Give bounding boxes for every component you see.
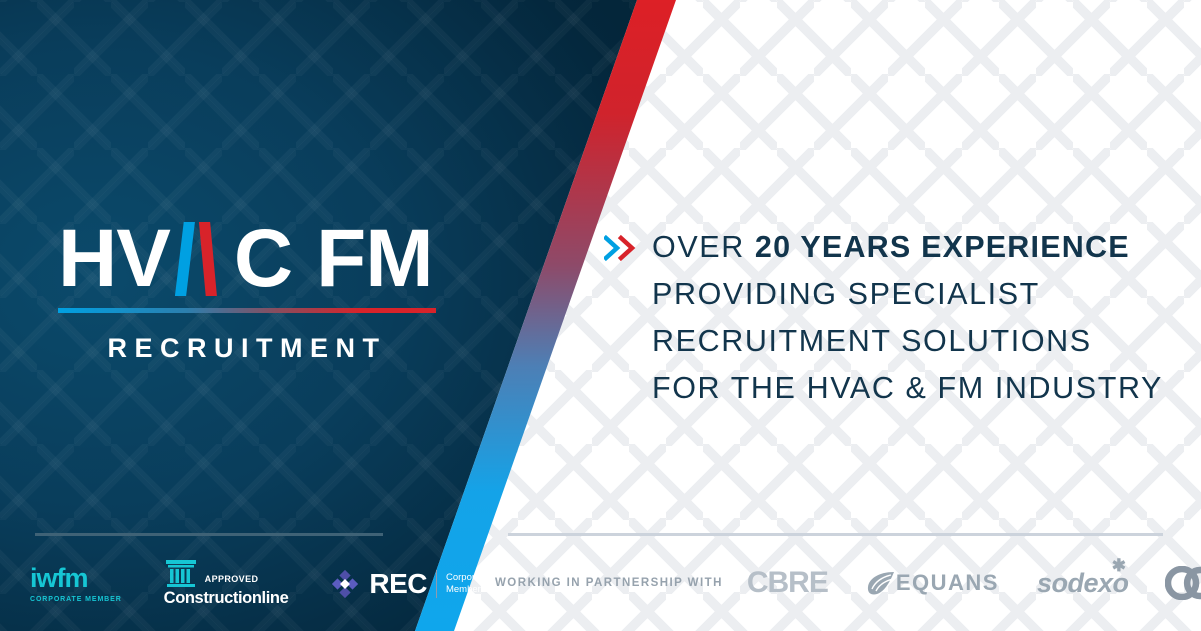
logo-gradient-rule xyxy=(58,308,436,313)
divider-rule-dark xyxy=(35,533,383,536)
diamond-cluster-icon xyxy=(330,569,360,599)
ocs-logo xyxy=(1165,566,1201,600)
pillar-icon xyxy=(164,560,198,587)
rec-logo: REC Corporate Member xyxy=(330,568,488,600)
headline-emphasis: 20 YEARS EXPERIENCE xyxy=(755,230,1130,264)
logo-a-red-bar xyxy=(197,222,217,296)
leaf-icon xyxy=(866,570,896,596)
rec-subtitle: Corporate Member xyxy=(446,572,488,596)
rec-wordmark: REC xyxy=(369,568,427,600)
logo-wordmark: HV C FM xyxy=(58,222,450,296)
constructionline-top-row: APPROVED xyxy=(164,560,289,587)
logo-text-fm: FM xyxy=(316,222,432,296)
logo-a-blue-bar xyxy=(175,222,195,296)
sodexo-logo: sodexo ✱ xyxy=(1037,568,1129,599)
headline-line-3: RECRUITMENT SOLUTIONS xyxy=(604,318,1180,365)
accreditation-logos: iwfm CORPORATE MEMBER APPROVED Construct… xyxy=(30,560,488,608)
partner-logos: WORKING IN PARTNERSHIP WITH CBRE EQUANS … xyxy=(495,566,1201,600)
hvac-fm-logo: HV C FM RECRUITMENT xyxy=(58,222,450,364)
cbre-logo: CBRE xyxy=(747,566,828,600)
equans-wordmark: EQUANS xyxy=(896,570,999,596)
headline-over: OVER xyxy=(652,230,755,264)
constructionline-logo: APPROVED Constructionline xyxy=(164,560,289,608)
logo-text-c: C xyxy=(234,222,292,296)
logo-letter-a-icon xyxy=(171,222,233,296)
rec-subtitle-line1: Corporate xyxy=(446,572,488,584)
double-chevron-right-icon xyxy=(604,232,638,264)
divider-rule-light xyxy=(508,533,1163,536)
equans-logo: EQUANS xyxy=(866,570,999,596)
rec-divider xyxy=(436,570,437,598)
iwfm-logo: iwfm CORPORATE MEMBER xyxy=(30,565,122,603)
constructionline-wordmark: Constructionline xyxy=(164,589,289,608)
headline-line-4: FOR THE HVAC & FM INDUSTRY xyxy=(604,365,1180,412)
iwfm-subtitle: CORPORATE MEMBER xyxy=(30,596,122,603)
constructionline-approved-badge: APPROVED xyxy=(205,574,259,587)
iwfm-wordmark: iwfm xyxy=(30,565,122,592)
promotional-banner: HV C FM RECRUITMENT OVER 20 YEARS EXPERI… xyxy=(0,0,1201,631)
logo-subtitle: RECRUITMENT xyxy=(58,333,436,364)
headline-line-2: PROVIDING SPECIALIST xyxy=(604,271,1180,318)
headline-line-1-text: OVER 20 YEARS EXPERIENCE xyxy=(652,224,1130,271)
partners-label: WORKING IN PARTNERSHIP WITH xyxy=(495,577,723,589)
headline-line-1: OVER 20 YEARS EXPERIENCE xyxy=(604,224,1180,271)
star-icon: ✱ xyxy=(1112,557,1126,574)
rec-subtitle-line2: Member xyxy=(446,584,488,596)
headline-block: OVER 20 YEARS EXPERIENCE PROVIDING SPECI… xyxy=(604,224,1180,412)
logo-text-hv: HV xyxy=(58,222,170,296)
